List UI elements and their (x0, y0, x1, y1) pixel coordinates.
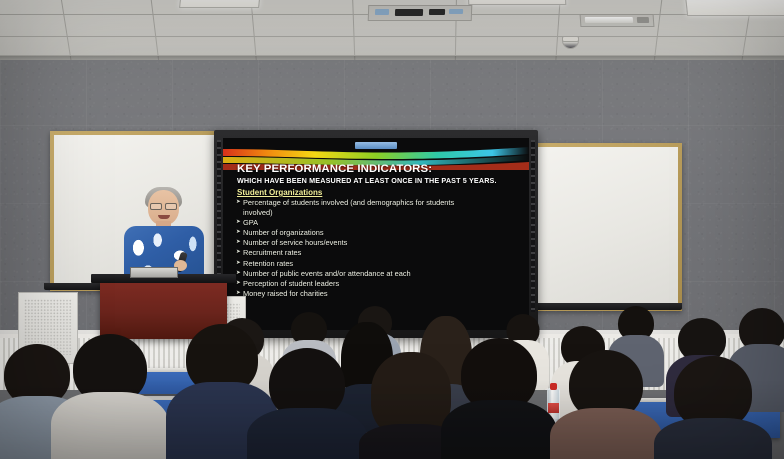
presentation-slide: KEY PERFORMANCE INDICATORS: WHICH HAVE B… (223, 138, 529, 330)
list-item (62, 334, 158, 459)
lecture-hall-scene: KEY PERFORMANCE INDICATORS: WHICH HAVE B… (0, 0, 784, 459)
ir-sensor-strip-right (531, 140, 535, 312)
student-torso (654, 418, 772, 459)
student-torso (51, 392, 169, 459)
lectern-monitor (130, 267, 178, 278)
slide-bullet: Percentage of students involved (and dem… (236, 198, 518, 217)
slide-bullet: Recruitment rates (236, 248, 518, 258)
recessed-light-fixture (580, 14, 655, 27)
slide-subtitle: WHICH HAVE BEEN MEASURED AT LEAST ONCE I… (237, 176, 513, 185)
slide-bullet: Perception of student leaders (236, 279, 518, 289)
slide-bullet: GPA (236, 218, 518, 228)
list-item (560, 350, 652, 459)
list-item (452, 338, 546, 459)
slide-bullet: Money raised for charities (236, 289, 518, 299)
ceiling-light-panel (685, 0, 784, 16)
suspended-tile-ceiling (0, 0, 784, 62)
list-item (664, 356, 762, 459)
slide-bullet-list: Percentage of students involved (and dem… (236, 198, 518, 299)
display-screen[interactable]: KEY PERFORMANCE INDICATORS: WHICH HAVE B… (223, 138, 529, 330)
slide-bullet: Number of public events and/or attendanc… (236, 269, 518, 279)
whiteboard-right (522, 143, 682, 311)
bottle-label (548, 403, 559, 413)
slide-bullet: Number of organizations (236, 228, 518, 238)
student-torso (247, 408, 367, 459)
student-torso (550, 408, 662, 459)
slide-title: KEY PERFORMANCE INDICATORS: (237, 164, 509, 176)
glasses-icon (150, 203, 177, 208)
recessed-projector-mount (368, 5, 473, 21)
slide-section-heading: Student Organizations (237, 188, 322, 197)
list-item (258, 348, 356, 459)
whiteboard-right-surface (526, 147, 678, 307)
student-torso (441, 400, 557, 459)
slide-bullet: Number of service hours/events (236, 238, 518, 248)
ceiling-light-panel (468, 0, 567, 5)
slide-bullet: Retention rates (236, 259, 518, 269)
ceiling-light-panel (179, 0, 261, 8)
